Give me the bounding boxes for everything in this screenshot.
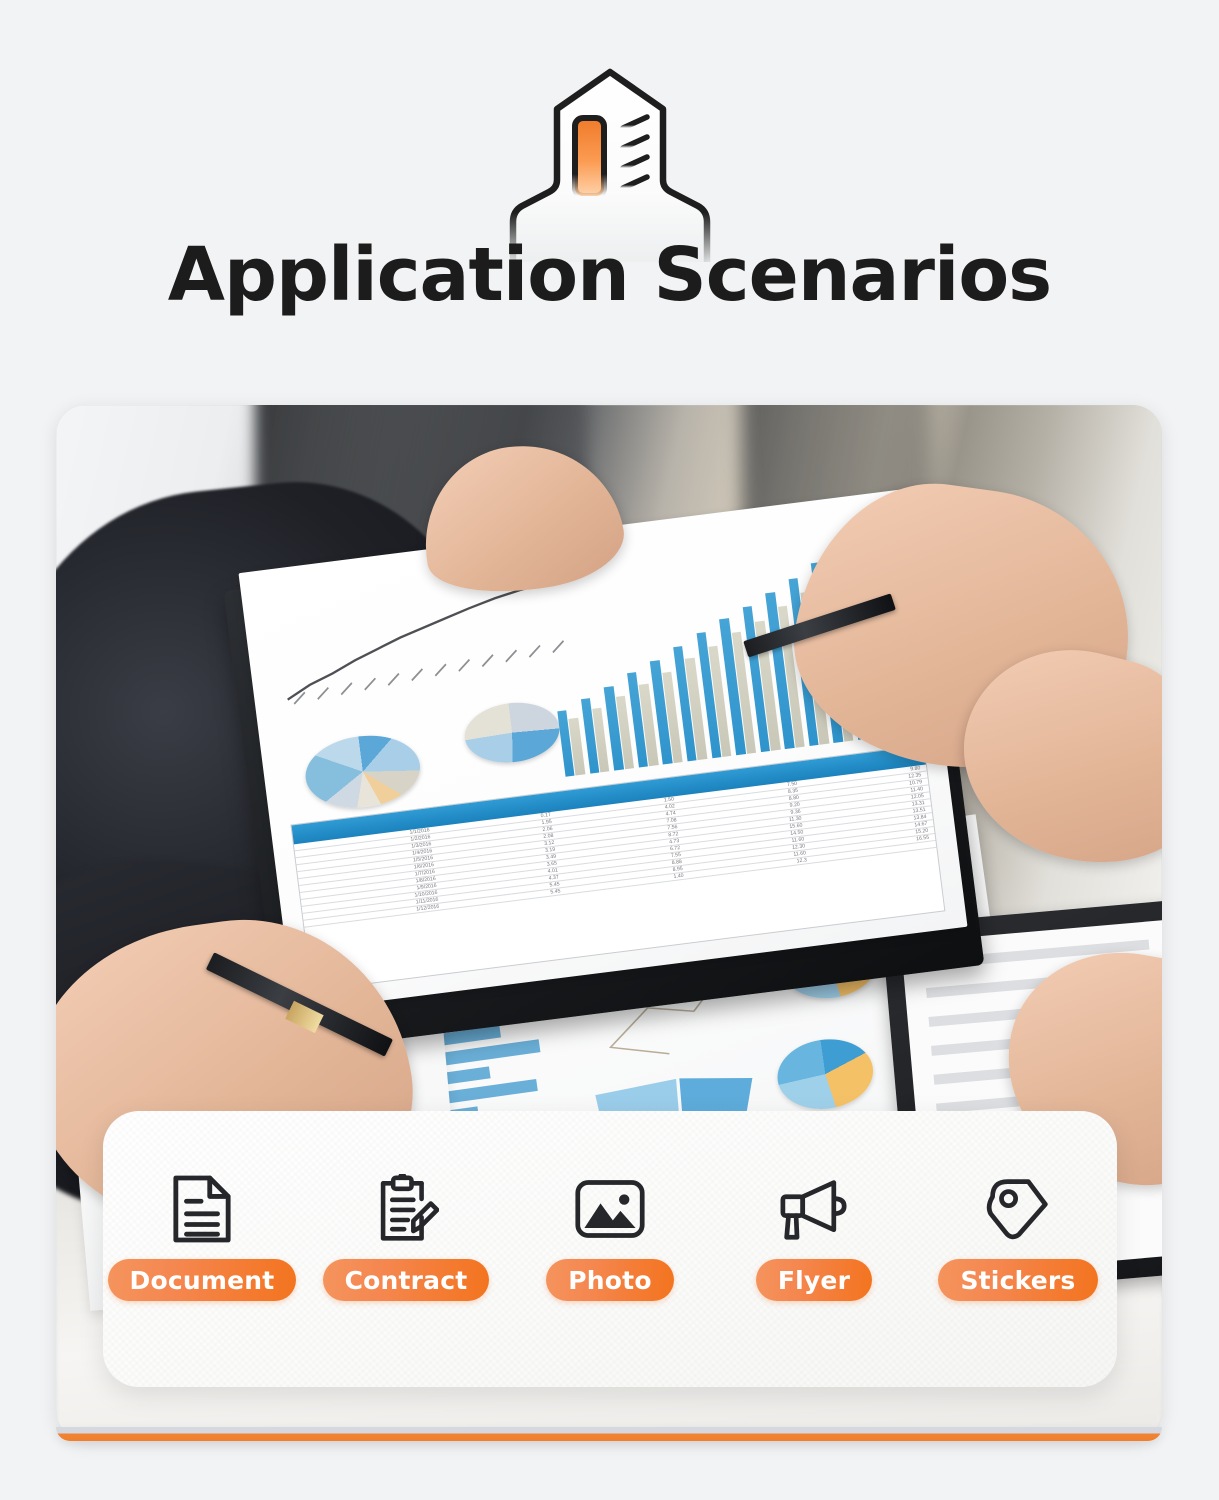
usecase-document[interactable]: Document (114, 1171, 290, 1301)
page-title-row: Application Scenarios (0, 238, 1219, 312)
clipboard-pie-chart-1 (301, 729, 425, 815)
usecase-label-contract[interactable]: Contract (323, 1259, 490, 1301)
usecase-list: Document (103, 1171, 1117, 1301)
application-scenarios-page: Application Scenarios (0, 0, 1219, 1500)
usecase-panel: Document (103, 1111, 1117, 1387)
usecase-label-photo[interactable]: Photo (546, 1259, 673, 1301)
usecase-photo[interactable]: Photo (522, 1171, 698, 1301)
usecase-contract[interactable]: Contract (318, 1171, 494, 1301)
photo-icon (574, 1171, 646, 1247)
orange-accent-bar (56, 1427, 1162, 1441)
contract-icon (373, 1171, 439, 1247)
megaphone-icon (777, 1171, 851, 1247)
usecase-label-document[interactable]: Document (108, 1259, 297, 1301)
desk-pie-chart-2 (773, 1034, 878, 1116)
usecase-label-stickers[interactable]: Stickers (938, 1259, 1097, 1301)
usecase-label-flyer[interactable]: Flyer (756, 1259, 872, 1301)
page-title: Application Scenarios (168, 238, 1051, 312)
header-section: Application Scenarios (0, 0, 1219, 390)
trend-line-chart (270, 571, 579, 709)
usecase-stickers[interactable]: Stickers (930, 1171, 1106, 1301)
document-icon (171, 1171, 233, 1247)
usecase-flyer[interactable]: Flyer (726, 1171, 902, 1301)
tag-icon (985, 1171, 1051, 1247)
clipboard-pie-chart-2 (461, 698, 563, 768)
